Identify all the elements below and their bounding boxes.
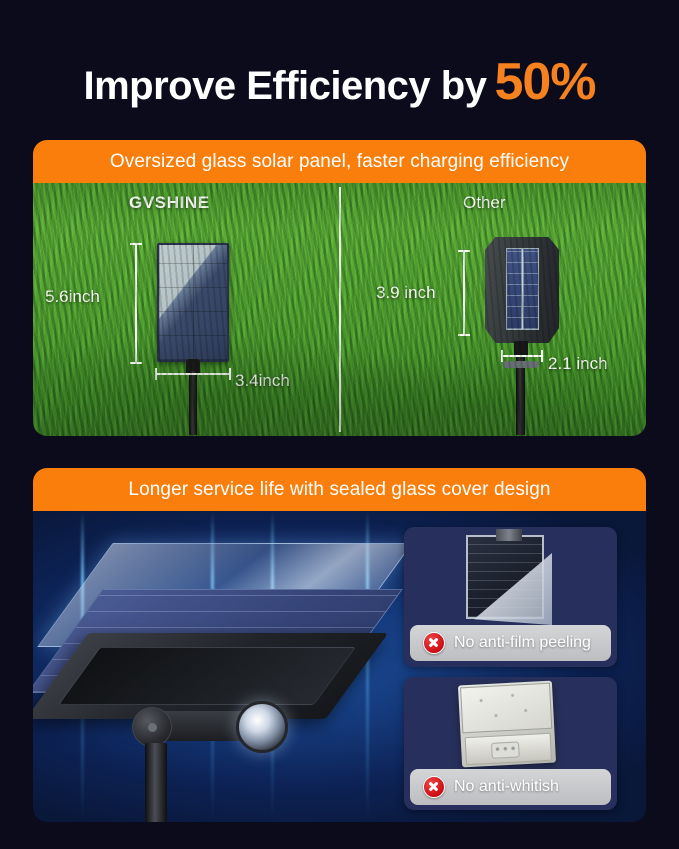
gvshine-width-cap-right [229, 368, 231, 380]
other-width-value: 2.1 inch [548, 354, 608, 374]
other-label: Other [463, 193, 506, 213]
glass-cover-card: Longer service life with sealed glass co… [33, 468, 646, 822]
other-cell-grid [507, 249, 538, 329]
mounting-pole [145, 743, 167, 822]
headline-accent-text: 50% [494, 53, 595, 111]
exploded-view-stage: No anti-film peeling No anti-whitish [33, 511, 646, 822]
other-height-line [463, 250, 465, 336]
gvshine-width-line [155, 373, 231, 375]
gvshine-height-cap-bottom [130, 362, 142, 364]
other-height-cap-top [458, 250, 470, 252]
gvshine-height-value: 5.6inch [45, 287, 100, 307]
red-x-icon [423, 632, 445, 654]
whitish-surface [460, 683, 552, 734]
red-x-icon [423, 776, 445, 798]
film-peeling-photo [404, 527, 617, 621]
led-lens [236, 701, 288, 753]
status-badge-label: No anti-film peeling [454, 634, 591, 652]
size-comparison-card: Oversized glass solar panel, faster char… [33, 140, 646, 436]
other-solar-cell [506, 248, 539, 330]
glass-banner: Longer service life with sealed glass co… [33, 468, 646, 511]
comparison-banner: Oversized glass solar panel, faster char… [33, 140, 646, 183]
whitish-panel-image [458, 681, 556, 768]
status-badge-whitish: No anti-whitish [410, 769, 611, 805]
status-badge-label: No anti-whitish [454, 778, 559, 796]
inset-card-whitish: No anti-whitish [404, 677, 617, 810]
grass-background: GVSHINE 5.6inch 3.4inch Other [33, 183, 646, 436]
page-title: Improve Efficiency by50% [0, 52, 679, 112]
gvshine-panel-grid [159, 245, 227, 360]
inset-card-film-peeling: No anti-film peeling [404, 527, 617, 667]
other-height-cap-bottom [458, 334, 470, 336]
other-width-line [501, 355, 543, 357]
headline-main-text: Improve Efficiency by [83, 64, 486, 108]
gvshine-width-value: 3.4inch [235, 371, 290, 391]
gvshine-height-line [135, 243, 137, 364]
product-infographic: Improve Efficiency by50% Oversized glass… [0, 0, 679, 849]
adjustment-hinge [132, 707, 172, 747]
led-array [491, 741, 520, 758]
housing-inner [58, 647, 356, 705]
other-width-cap-right [541, 350, 543, 362]
comparison-divider [339, 187, 341, 432]
peeling-panel-image [466, 535, 544, 619]
status-badge-film-peeling: No anti-film peeling [410, 625, 611, 661]
housing-layer [33, 633, 388, 719]
whitish-photo [404, 677, 617, 771]
other-width-cap-left [501, 350, 503, 362]
gvshine-height-cap-top [130, 243, 142, 245]
gvshine-solar-panel [157, 243, 229, 362]
other-collar [503, 361, 539, 368]
gvshine-label: GVSHINE [129, 193, 210, 213]
gvshine-width-cap-left [155, 368, 157, 380]
gvshine-ground-stake [189, 371, 197, 435]
other-height-value: 3.9 inch [376, 283, 436, 303]
